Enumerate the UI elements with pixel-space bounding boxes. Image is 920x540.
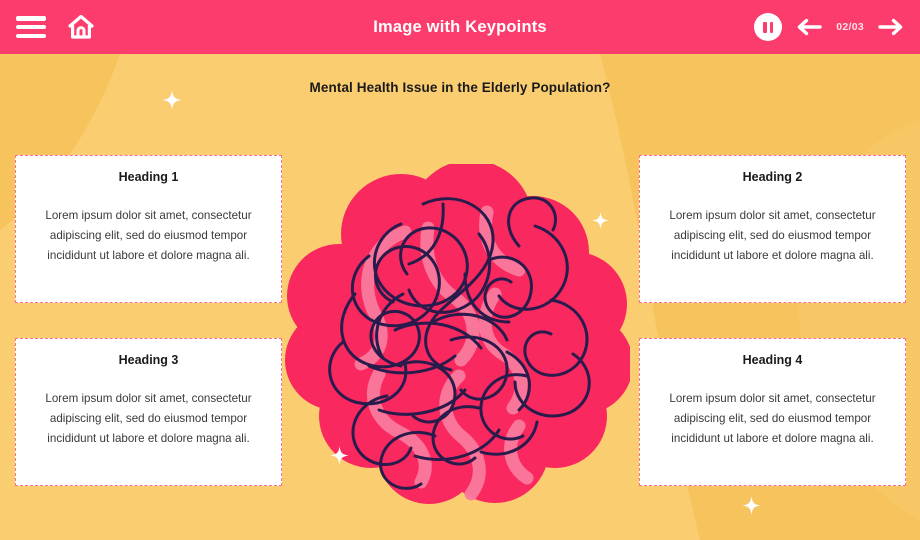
slide-title: Mental Health Issue in the Elderly Popul… bbox=[0, 80, 920, 95]
slide-content: Mental Health Issue in the Elderly Popul… bbox=[0, 54, 920, 540]
keypoint-card[interactable]: Heading 1 Lorem ipsum dolor sit amet, co… bbox=[15, 155, 282, 303]
card-heading: Heading 1 bbox=[28, 170, 269, 184]
card-body: Lorem ipsum dolor sit amet, consectetur … bbox=[652, 206, 893, 266]
arrow-right-icon[interactable] bbox=[878, 17, 904, 37]
home-icon[interactable] bbox=[66, 13, 96, 41]
card-heading: Heading 2 bbox=[652, 170, 893, 184]
keypoint-card[interactable]: Heading 4 Lorem ipsum dolor sit amet, co… bbox=[639, 338, 906, 486]
sparkle-top-left-icon bbox=[162, 90, 182, 110]
keypoint-card[interactable]: Heading 2 Lorem ipsum dolor sit amet, co… bbox=[639, 155, 906, 303]
toolbar-right-group: 02/03 bbox=[754, 13, 904, 41]
hamburger-bar bbox=[16, 16, 46, 21]
sparkle-bottom-left-icon bbox=[330, 446, 349, 465]
card-body: Lorem ipsum dolor sit amet, consectetur … bbox=[28, 206, 269, 266]
hamburger-bar bbox=[16, 34, 46, 39]
pause-bar bbox=[763, 22, 767, 33]
toolbar-left-group bbox=[16, 13, 96, 41]
hamburger-bar bbox=[16, 25, 46, 30]
page-counter: 02/03 bbox=[836, 21, 864, 33]
card-body: Lorem ipsum dolor sit amet, consectetur … bbox=[28, 389, 269, 449]
top-toolbar: Image with Keypoints 02/03 bbox=[0, 0, 920, 54]
card-heading: Heading 3 bbox=[28, 353, 269, 367]
arrow-left-icon[interactable] bbox=[796, 17, 822, 37]
card-body: Lorem ipsum dolor sit amet, consectetur … bbox=[652, 389, 893, 449]
keypoint-card[interactable]: Heading 3 Lorem ipsum dolor sit amet, co… bbox=[15, 338, 282, 486]
card-heading: Heading 4 bbox=[652, 353, 893, 367]
pause-icon[interactable] bbox=[754, 13, 782, 41]
pause-bar bbox=[770, 22, 774, 33]
sparkle-bottom-right-icon bbox=[742, 496, 761, 515]
hamburger-menu-icon[interactable] bbox=[16, 16, 46, 38]
sparkle-mid-right-icon bbox=[592, 212, 609, 229]
